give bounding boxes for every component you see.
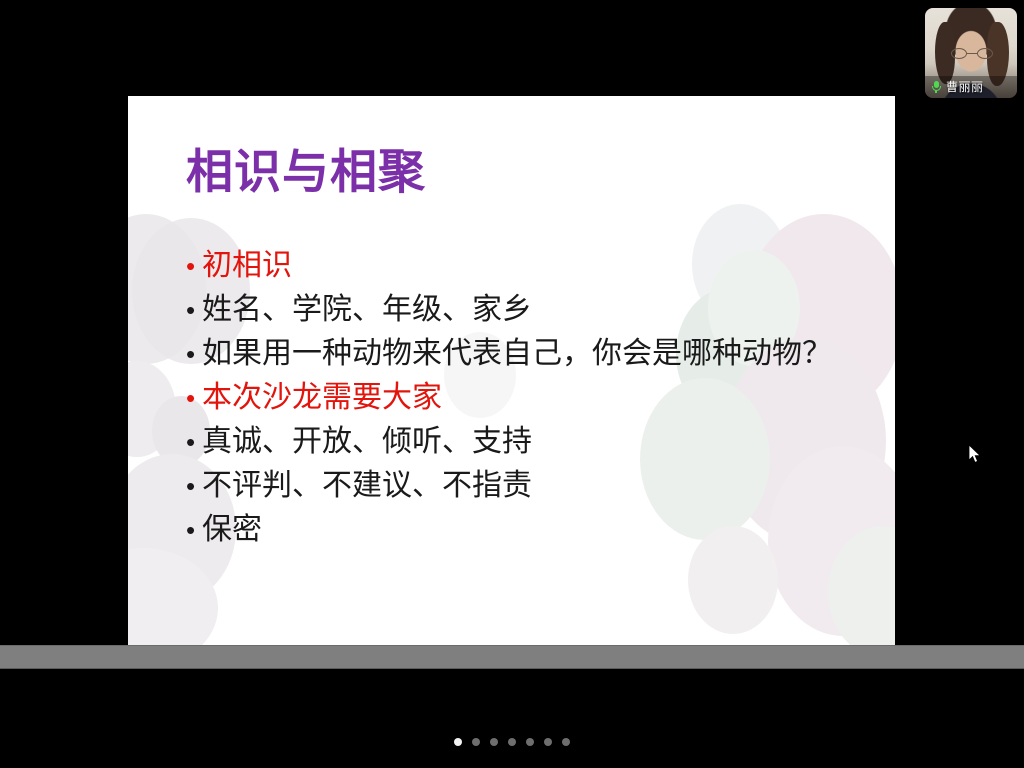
bullet-item-label: 姓名、学院、年级、家乡	[202, 288, 532, 332]
page-dot[interactable]	[562, 738, 570, 746]
page-dot[interactable]	[472, 738, 480, 746]
bullet-item: •初相识	[186, 244, 886, 288]
bullet-item-label: 初相识	[202, 244, 292, 288]
participant-video-tile[interactable]: 曹丽丽	[925, 8, 1017, 98]
page-dot[interactable]	[490, 738, 498, 746]
bullet-item-label: 保密	[202, 508, 262, 552]
page-dot[interactable]	[454, 738, 462, 746]
bullet-item-label: 本次沙龙需要大家	[202, 376, 442, 420]
participant-name-label: 曹丽丽	[946, 80, 984, 94]
bullet-marker-icon: •	[186, 376, 202, 420]
page-indicator-dots[interactable]	[0, 738, 1024, 746]
page-dot[interactable]	[544, 738, 552, 746]
page-dot[interactable]	[508, 738, 516, 746]
bullet-marker-icon: •	[186, 508, 202, 552]
participant-name-strip: 曹丽丽	[925, 76, 1017, 98]
bullet-item-label: 不评判、不建议、不指责	[202, 464, 532, 508]
bullet-marker-icon: •	[186, 332, 202, 376]
arrow-pointer-icon	[968, 444, 982, 464]
microphone-unmuted-icon[interactable]	[930, 80, 942, 94]
bullet-item: •保密	[186, 508, 886, 552]
slide-surface[interactable]: 相识与相聚 •初相识•姓名、学院、年级、家乡•如果用一种动物来代表自己，你会是哪…	[128, 96, 895, 645]
glasses-icon	[951, 48, 993, 60]
bullet-item: •如果用一种动物来代表自己，你会是哪种动物？	[186, 332, 886, 376]
bullet-item: •本次沙龙需要大家	[186, 376, 886, 420]
bullet-marker-icon: •	[186, 288, 202, 332]
presentation-viewer: 相识与相聚 •初相识•姓名、学院、年级、家乡•如果用一种动物来代表自己，你会是哪…	[0, 0, 1024, 768]
bullet-marker-icon: •	[186, 464, 202, 508]
bullet-marker-icon: •	[186, 420, 202, 464]
horizontal-scrollbar[interactable]	[0, 645, 1024, 669]
bullet-marker-icon: •	[186, 244, 202, 288]
bullet-item: •姓名、学院、年级、家乡	[186, 288, 886, 332]
bullet-item: •真诚、开放、倾听、支持	[186, 420, 886, 464]
bullet-item: •不评判、不建议、不指责	[186, 464, 886, 508]
bullet-list: •初相识•姓名、学院、年级、家乡•如果用一种动物来代表自己，你会是哪种动物？•本…	[186, 244, 886, 552]
bullet-item-label: 如果用一种动物来代表自己，你会是哪种动物？	[202, 332, 832, 376]
bullet-item-label: 真诚、开放、倾听、支持	[202, 420, 532, 464]
slide-title: 相识与相聚	[186, 146, 426, 198]
page-dot[interactable]	[526, 738, 534, 746]
